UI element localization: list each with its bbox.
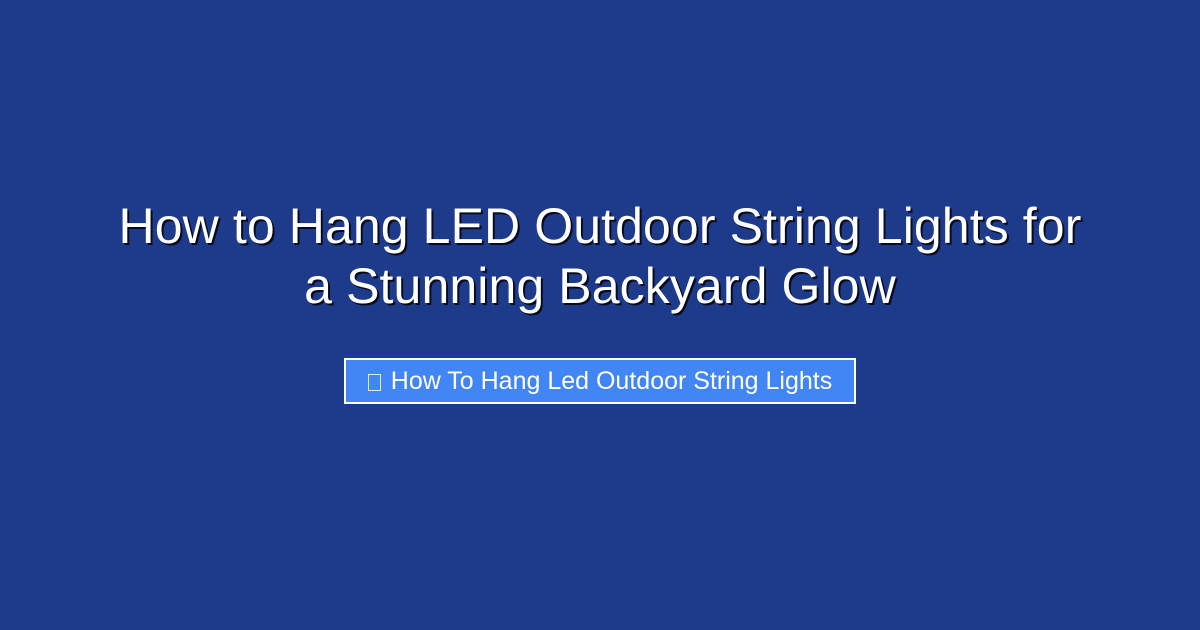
badge-row: How To Hang Led Outdoor String Lights	[0, 358, 1200, 404]
social-share-card: How to Hang LED Outdoor String Lights fo…	[0, 0, 1200, 630]
topic-badge[interactable]: How To Hang Led Outdoor String Lights	[344, 358, 856, 404]
headline-text: How to Hang LED Outdoor String Lights fo…	[100, 196, 1100, 316]
missing-glyph-box-icon	[368, 374, 381, 391]
headline-line-2: Stunning Backyard Glow	[346, 258, 896, 314]
badge-label: How To Hang Led Outdoor String Lights	[391, 369, 832, 394]
page-title: How to Hang LED Outdoor String Lights fo…	[0, 196, 1200, 316]
